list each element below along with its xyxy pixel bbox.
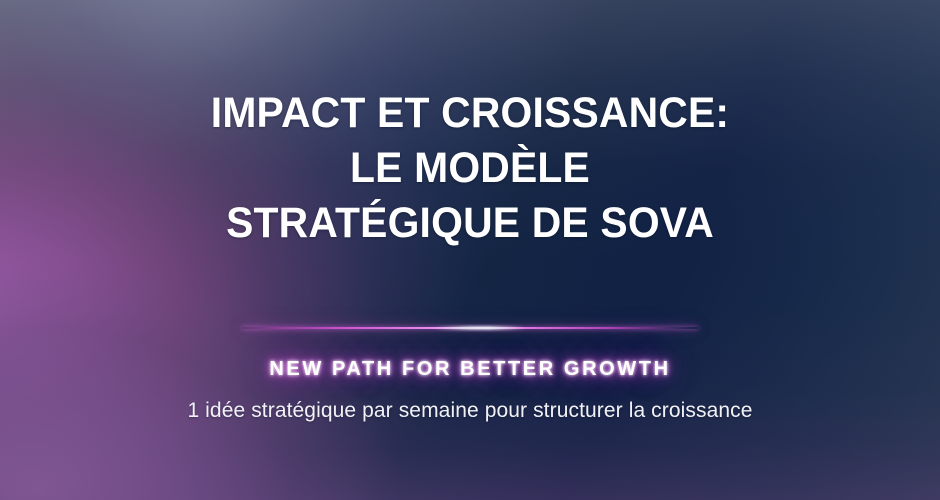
title-line-1: IMPACT ET CROISSANCE:	[62, 86, 879, 141]
glowing-divider	[242, 327, 698, 329]
slide-content: IMPACT ET CROISSANCE: LE MODÈLE STRATÉGI…	[0, 0, 940, 500]
divider-container	[0, 322, 940, 334]
title-line-2: LE MODÈLE	[62, 141, 879, 196]
page-title: IMPACT ET CROISSANCE: LE MODÈLE STRATÉGI…	[0, 86, 940, 251]
slide-subtitle: NEW PATH FOR BETTER GROWTH	[0, 358, 940, 381]
slide-canvas: IMPACT ET CROISSANCE: LE MODÈLE STRATÉGI…	[0, 0, 940, 500]
title-line-3: STRATÉGIQUE DE SOVA	[62, 196, 879, 251]
slide-tagline: 1 idée stratégique par semaine pour stru…	[0, 399, 940, 423]
